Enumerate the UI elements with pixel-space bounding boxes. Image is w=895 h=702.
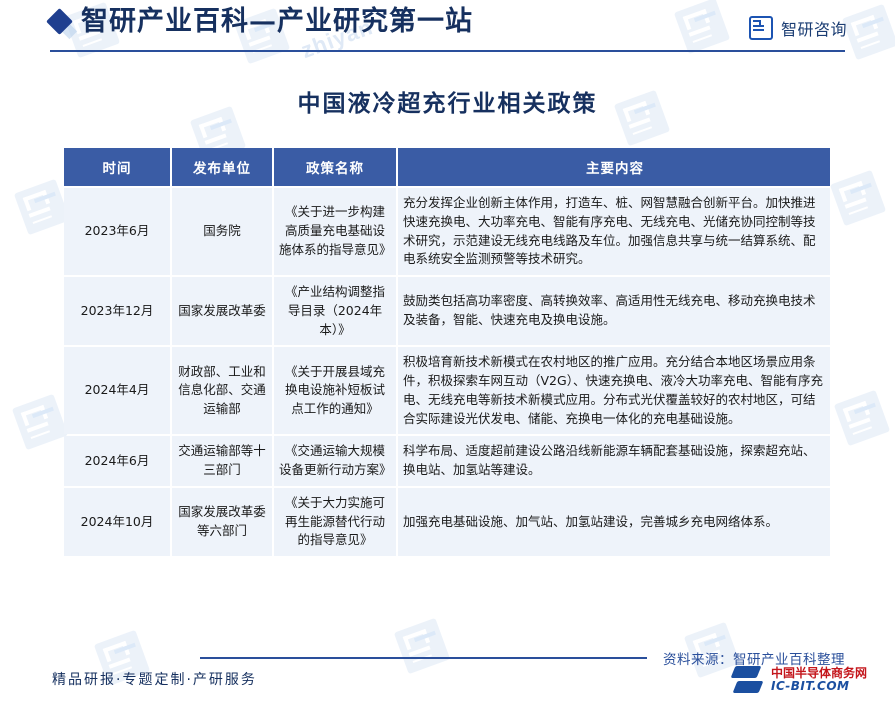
column-header-content: 主要内容	[398, 148, 830, 186]
cell-policy: 《关于大力实施可再生能源替代行动的指导意见》	[274, 488, 396, 556]
diamond-icon	[46, 8, 73, 35]
brand-title: 智研产业百科—产业研究第一站	[81, 8, 473, 35]
cell-time: 2024年6月	[64, 436, 170, 486]
column-header-time: 时间	[64, 148, 170, 186]
page-header: 智研产业百科—产业研究第一站 智研咨询	[0, 0, 895, 57]
cell-content: 鼓励类包括高功率密度、高转换效率、高适用性无线充电、移动充换电技术及装备，智能、…	[398, 277, 830, 345]
table-row: 2023年12月 国家发展改革委 《产业结构调整指导目录（2024年本）》 鼓励…	[64, 277, 830, 345]
icbit-watermark: 中国半导体商务网 IC-BIT.COM	[733, 664, 867, 696]
cell-org: 交通运输部等十三部门	[172, 436, 272, 486]
cell-content: 加强充电基础设施、加气站、加氢站建设，完善城乡充电网络体系。	[398, 488, 830, 556]
cell-content: 积极培育新技术新模式在农村地区的推广应用。充分结合本地区场景应用条件，积极探索车…	[398, 347, 830, 434]
cell-content: 充分发挥企业创新主体作用，打造车、桩、网智慧融合创新平台。加快推进快速充换电、大…	[398, 188, 830, 275]
table-row: 2023年6月 国务院 《关于进一步构建高质量充电基础设施体系的指导意见》 充分…	[64, 188, 830, 275]
cell-org: 国家发展改革委等六部门	[172, 488, 272, 556]
table-row: 2024年10月 国家发展改革委等六部门 《关于大力实施可再生能源替代行动的指导…	[64, 488, 830, 556]
column-header-policy: 政策名称	[274, 148, 396, 186]
zhiyan-logo-icon	[749, 16, 773, 40]
table-row: 2024年6月 交通运输部等十三部门 《交通运输大规模设备更新行动方案》 科学布…	[64, 436, 830, 486]
icbit-en-label: IC-BIT.COM	[771, 680, 867, 693]
cell-time: 2023年12月	[64, 277, 170, 345]
watermark-logo	[12, 394, 68, 450]
icbit-b-logo-icon	[733, 664, 767, 696]
watermark-logo	[830, 170, 886, 226]
page-title: 中国液冷超充行业相关政策	[0, 84, 895, 118]
icbit-text: 中国半导体商务网 IC-BIT.COM	[771, 667, 867, 692]
cell-policy: 《关于开展县域充换电设施补短板试点工作的通知》	[274, 347, 396, 434]
table-row: 2024年4月 财政部、工业和信息化部、交通运输部 《关于开展县域充换电设施补短…	[64, 347, 830, 434]
cell-org: 财政部、工业和信息化部、交通运输部	[172, 347, 272, 434]
cell-content: 科学布局、适度超前建设公路沿线新能源车辆配套基础设施，探索超充站、换电站、加氢站…	[398, 436, 830, 486]
cell-policy: 《产业结构调整指导目录（2024年本）》	[274, 277, 396, 345]
footer-divider	[200, 657, 647, 659]
column-header-org: 发布单位	[172, 148, 272, 186]
cell-time: 2024年10月	[64, 488, 170, 556]
cell-policy: 《交通运输大规模设备更新行动方案》	[274, 436, 396, 486]
brand: 智研产业百科—产业研究第一站	[50, 8, 473, 35]
cell-time: 2024年4月	[64, 347, 170, 434]
cell-time: 2023年6月	[64, 188, 170, 275]
table-head: 时间 发布单位 政策名称 主要内容	[64, 148, 830, 186]
table-body: 2023年6月 国务院 《关于进一步构建高质量充电基础设施体系的指导意见》 充分…	[64, 188, 830, 556]
watermark-logo	[834, 390, 890, 446]
policy-table: 时间 发布单位 政策名称 主要内容 2023年6月 国务院 《关于进一步构建高质…	[62, 146, 832, 558]
header-divider	[50, 50, 845, 52]
cell-policy: 《关于进一步构建高质量充电基础设施体系的指导意见》	[274, 188, 396, 275]
cell-org: 国务院	[172, 188, 272, 275]
corp-branding: 智研咨询	[749, 16, 847, 40]
cell-org: 国家发展改革委	[172, 277, 272, 345]
table-header-row: 时间 发布单位 政策名称 主要内容	[64, 148, 830, 186]
corp-name: 智研咨询	[781, 16, 847, 40]
footer-slogan: 精品研报·专题定制·产研服务	[52, 669, 257, 689]
